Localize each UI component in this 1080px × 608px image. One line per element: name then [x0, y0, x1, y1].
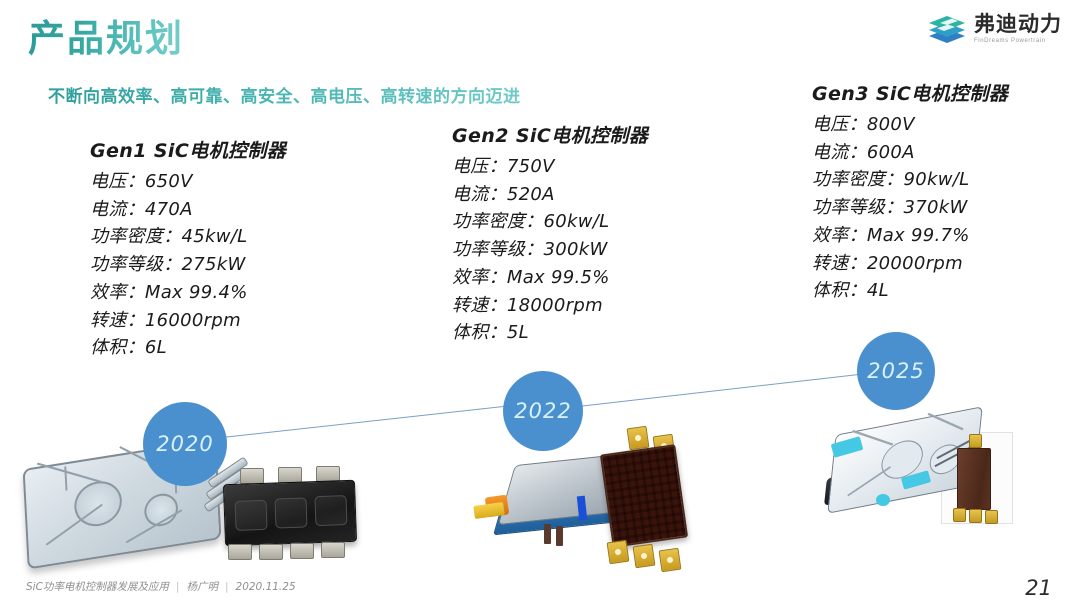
- gen1-black-power-module-photo: [216, 462, 368, 570]
- gen2-module-terminal: [633, 544, 656, 569]
- spec-row-power-density: 功率密度：90kw/L: [812, 166, 1008, 194]
- spec-row-voltage: 电压：650V: [90, 168, 286, 196]
- spec-row-speed: 转速：18000rpm: [452, 292, 648, 320]
- footer-author: 杨广明: [186, 579, 218, 594]
- footer-doc-title: SiC功率电机控制器发展及应用: [26, 579, 169, 594]
- spec-heading-gen3: Gen3 SiC电机控制器: [812, 79, 1008, 106]
- spec-row-speed: 转速：20000rpm: [812, 250, 1008, 278]
- gen1-module-body: [223, 480, 357, 547]
- spec-heading-gen2: Gen2 SiC电机控制器: [452, 121, 648, 148]
- gen2-module-terminal: [627, 426, 650, 451]
- gen1-module-terminal: [240, 468, 264, 484]
- spec-block-gen1: Gen1 SiC电机控制器 电压：650V 电流：470A 功率密度：45kw/…: [90, 136, 286, 362]
- spec-row-voltage: 电压：800V: [812, 111, 1008, 139]
- gen3-module-terminal: [969, 509, 982, 523]
- gen3-module-terminal: [953, 508, 966, 522]
- spec-block-gen3: Gen3 SiC电机控制器 电压：800V 电流：600A 功率密度：90kw/…: [812, 79, 1008, 305]
- page-subtitle: 不断向高效率、高可靠、高安全、高电压、高转速的方向迈进: [48, 82, 521, 107]
- gen1-module-terminal: [228, 544, 252, 560]
- spec-row-efficiency: 效率：Max 99.4%: [90, 279, 286, 307]
- gen1-module-terminal: [290, 543, 314, 559]
- spec-row-current: 电流：600A: [812, 139, 1008, 167]
- gen1-housing-rib: [37, 463, 102, 484]
- spec-block-gen2: Gen2 SiC电机控制器 电压：750V 电流：520A 功率密度：60kw/…: [452, 121, 648, 347]
- gen2-mount-foot: [544, 524, 551, 544]
- spec-row-current: 电流：470A: [90, 196, 286, 224]
- gen2-module-pinfin-surface: [600, 444, 688, 548]
- gen2-module-terminal: [607, 540, 630, 565]
- gen3-cyan-accent: [876, 494, 890, 506]
- spec-row-volume: 体积：5L: [452, 319, 648, 347]
- gen2-module-terminal: [659, 548, 682, 573]
- timeline-connector-2022-2025: [578, 373, 864, 407]
- company-logo: 弗迪动力 FinDreams Powertrain: [928, 12, 1062, 46]
- spec-row-current: 电流：520A: [452, 181, 648, 209]
- timeline-year-2020[interactable]: 2020: [143, 402, 227, 486]
- footer: SiC功率电机控制器发展及应用 | 杨广明 | 2020.11.25: [26, 579, 296, 594]
- page-title: 产品规划: [28, 8, 184, 62]
- gen3-module-body: [957, 448, 991, 510]
- gen1-housing-rib: [64, 466, 67, 490]
- footer-separator: |: [176, 581, 180, 593]
- spec-row-efficiency: 效率：Max 99.7%: [812, 222, 1008, 250]
- gen1-module-cavity: [274, 497, 307, 528]
- spec-row-efficiency: 效率：Max 99.5%: [452, 264, 648, 292]
- gen1-housing-ring-large: [73, 478, 123, 530]
- footer-separator: |: [225, 581, 229, 593]
- gen1-module-cavity: [235, 500, 268, 531]
- footer-date: 2020.11.25: [236, 581, 296, 593]
- gen3-module-terminal: [969, 434, 982, 448]
- gen1-module-terminal: [259, 544, 283, 560]
- spec-row-power-density: 功率密度：45kw/L: [90, 223, 286, 251]
- spec-row-volume: 体积：4L: [812, 277, 1008, 305]
- timeline-year-2025[interactable]: 2025: [857, 332, 935, 410]
- logo-text-group: 弗迪动力 FinDreams Powertrain: [974, 14, 1062, 44]
- timeline-year-2022[interactable]: 2022: [503, 371, 583, 451]
- gen1-module-terminal: [321, 542, 345, 558]
- spec-row-speed: 转速：16000rpm: [90, 307, 286, 335]
- logo-name-en: FinDreams Powertrain: [974, 38, 1062, 44]
- spec-row-voltage: 电压：750V: [452, 153, 648, 181]
- gen3-module-terminal: [985, 510, 998, 524]
- gen3-power-module-photo: [935, 424, 1021, 534]
- spec-row-power-rating: 功率等级：300kW: [452, 236, 648, 264]
- spec-heading-gen1: Gen1 SiC电机控制器: [90, 136, 286, 163]
- gen1-module-cavity: [314, 495, 347, 526]
- layered-diamond-logo-icon: [928, 12, 966, 46]
- gen1-module-terminal: [278, 467, 302, 483]
- timeline-connector-2020-2022: [222, 405, 510, 438]
- gen2-mount-foot: [556, 526, 563, 546]
- spec-row-volume: 体积：6L: [90, 334, 286, 362]
- spec-row-power-rating: 功率等级：370kW: [812, 194, 1008, 222]
- gen2-pinfin-power-module-photo: [590, 425, 720, 570]
- gen3-lid-rib: [847, 466, 890, 497]
- page-number: 21: [1025, 576, 1052, 600]
- spec-row-power-density: 功率密度：60kw/L: [452, 208, 648, 236]
- spec-row-power-rating: 功率等级：275kW: [90, 251, 286, 279]
- logo-name-cn: 弗迪动力: [974, 14, 1062, 35]
